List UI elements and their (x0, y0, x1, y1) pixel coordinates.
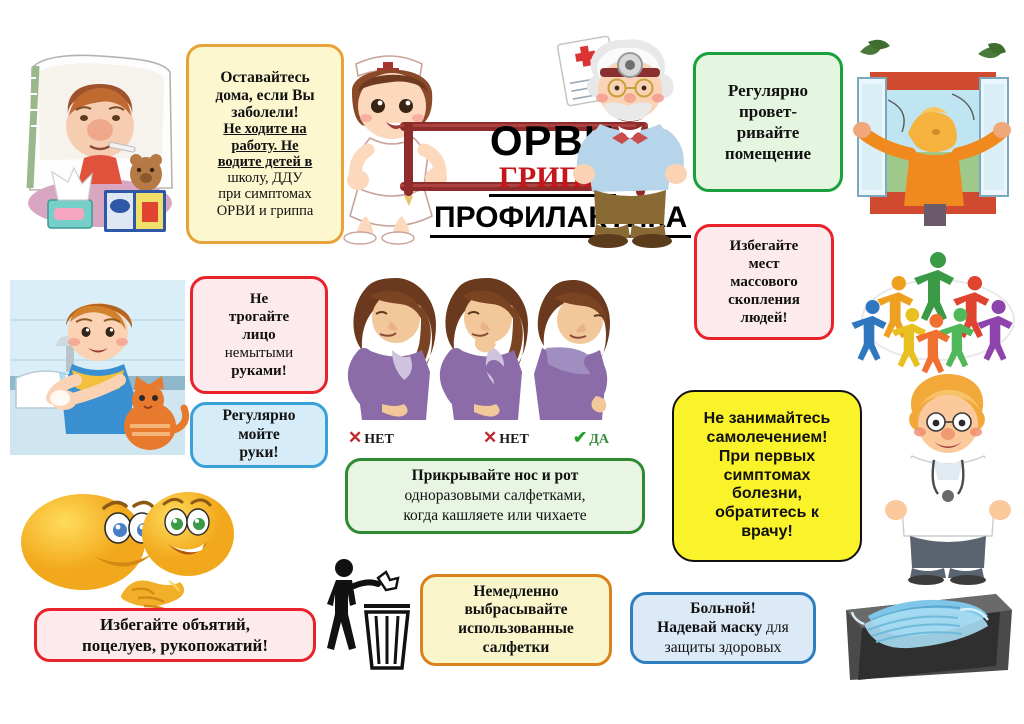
discard-tissues-line-4: салфетки (429, 639, 603, 658)
stay-home-line-1: Оставайтесь (195, 69, 335, 86)
no-self-medication-line-4: симптомах (680, 467, 854, 486)
smileys-illustration (18, 490, 233, 615)
callout-wear-mask: Больной! Надевай маску для защиты здоров… (630, 592, 816, 664)
marker-no-2-label: НЕТ (499, 432, 529, 447)
dont-touch-face-line-5: руками! (199, 362, 319, 380)
no-self-medication-line-1: Не занимайтесь (680, 410, 854, 429)
stay-home-line-8: при симптомах (195, 186, 335, 202)
cross-icon: ✕ (348, 428, 362, 447)
marker-no-1: ✕НЕТ (348, 428, 394, 448)
callout-avoid-crowds: Избегайте мест массового скопления людей… (694, 224, 834, 340)
marker-no-2: ✕НЕТ (483, 428, 529, 448)
discard-tissues-line-1: Немедленно (429, 583, 603, 602)
dont-touch-face-line-1: Не (199, 290, 319, 308)
avoid-crowds-line-3: массового (703, 273, 825, 291)
stay-home-line-5: работу. Не (231, 138, 298, 154)
wear-mask-line-1: Больной! (639, 599, 807, 618)
wear-mask-line-3: защиты здоровых (639, 638, 807, 657)
avoid-hugs-line-1: Избегайте объятий, (43, 614, 307, 635)
wash-hands-line-2: мойте (199, 426, 319, 445)
callout-cover-mouth: Прикрывайте нос и рот одноразовыми салфе… (345, 458, 645, 534)
cover-mouth-line-1: Прикрывайте нос и рот (354, 466, 636, 486)
stay-home-line-2: дома, если Вы (195, 87, 335, 104)
dont-touch-face-line-2: трогайте (199, 308, 319, 326)
wash-hands-line-3: руки! (199, 444, 319, 463)
ventilate-line-3: ривайте (702, 122, 834, 143)
no-self-medication-line-3: При первых (680, 448, 854, 467)
person-opening-window-illustration (848, 32, 1018, 237)
no-self-medication-line-6: обратитесь к (680, 504, 854, 523)
wear-mask-line-2b: для (762, 619, 789, 636)
callout-ventilate: Регулярно провет- ривайте помещение (693, 52, 843, 192)
stay-home-line-3: заболели! (195, 104, 335, 121)
avoid-hugs-line-2: поцелуев, рукопожатий! (43, 635, 307, 656)
box-of-masks-illustration (838, 576, 1018, 686)
avoid-crowds-line-5: людей! (703, 309, 825, 327)
sick-child-in-bed-illustration (12, 38, 184, 243)
avoid-crowds-line-4: скопления (703, 291, 825, 309)
no-self-medication-line-2: самолечением! (680, 429, 854, 448)
callout-wash-hands: Регулярно мойте руки! (190, 402, 328, 468)
check-icon: ✔ (573, 428, 587, 447)
marker-yes: ✔ДА (573, 428, 609, 448)
colorful-people-circle-illustration (858, 250, 1018, 365)
elderly-doctor-illustration (560, 28, 700, 248)
boy-washing-hands-illustration (10, 280, 185, 455)
avoid-crowds-line-2: мест (703, 255, 825, 273)
stay-home-line-7: школу, ДДУ (195, 170, 335, 186)
callout-discard-tissues: Немедленно выбрасывайте использованные с… (420, 574, 612, 666)
discard-tissues-line-2: выбрасывайте (429, 601, 603, 620)
stay-home-line-9: ОРВИ и гриппа (195, 203, 335, 219)
callout-dont-touch-face: Не трогайте лицо немытыми руками! (190, 276, 328, 394)
poster-canvas: Оставайтесь дома, если Вы заболели! Не х… (0, 0, 1024, 724)
no-self-medication-line-7: врачу! (680, 523, 854, 542)
callout-no-self-medication: Не занимайтесь самолечением! При первых … (672, 390, 862, 562)
stay-home-line-4: Не ходите на (223, 121, 306, 137)
marker-no-1-label: НЕТ (364, 432, 394, 447)
throw-tissue-in-bin-icon (322, 556, 414, 674)
ventilate-line-2: провет- (702, 101, 834, 122)
wash-hands-line-1: Регулярно (199, 407, 319, 426)
wear-mask-line-2: Надевай маску (657, 619, 762, 636)
ventilate-line-1: Регулярно (702, 80, 834, 101)
doctor-holding-mask-illustration (872, 368, 1022, 583)
ventilate-line-4: помещение (702, 143, 834, 164)
callout-avoid-hugs: Избегайте объятий, поцелуев, рукопожатий… (34, 608, 316, 662)
cover-mouth-line-3: когда кашляете или чихаете (354, 506, 636, 526)
cover-mouth-line-2: одноразовыми салфетками, (354, 486, 636, 506)
cross-icon: ✕ (483, 428, 497, 447)
avoid-crowds-line-1: Избегайте (703, 237, 825, 255)
callout-stay-home: Оставайтесь дома, если Вы заболели! Не х… (186, 44, 344, 244)
dont-touch-face-line-3: лицо (199, 326, 319, 344)
coughing-figures-illustration (340, 276, 610, 428)
discard-tissues-line-3: использованные (429, 620, 603, 639)
stay-home-line-6: водите детей в (218, 154, 313, 170)
marker-yes-label: ДА (589, 432, 609, 447)
no-self-medication-line-5: болезни, (680, 485, 854, 504)
dont-touch-face-line-4: немытыми (199, 344, 319, 362)
